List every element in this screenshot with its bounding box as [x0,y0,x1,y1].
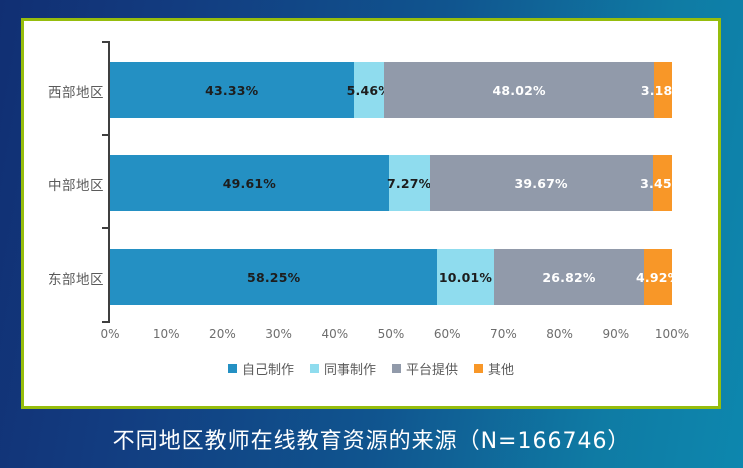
bar-segment-label: 58.25% [247,270,300,285]
bar-segment-label: 49.61% [223,176,276,191]
bar-segment[interactable]: 3.45% [653,155,672,211]
y-axis-tick [102,134,109,136]
legend-label: 平台提供 [406,359,458,378]
category-label: 西部地区 [30,81,104,101]
x-axis-tick-label: 80% [546,327,573,341]
bar-segment-label: 4.92% [636,270,680,285]
plot-area: 西部地区中部地区东部地区 43.33%5.46%48.02%3.18%49.61… [24,21,718,406]
bar-segment-label: 39.67% [514,176,567,191]
legend-swatch-icon [228,364,237,373]
bar-row: 58.25%10.01%26.82%4.92% [110,249,672,305]
x-axis-tick-label: 40% [321,327,348,341]
legend-item[interactable]: 平台提供 [392,359,458,378]
bar-segment-label: 7.27% [387,176,431,191]
legend-swatch-icon [310,364,319,373]
bar-segment[interactable]: 5.46% [354,62,385,118]
chart-legend: 自己制作同事制作平台提供其他 [24,359,718,378]
legend-label: 其他 [488,359,514,378]
bar-segment[interactable]: 48.02% [384,62,654,118]
bar-segment[interactable]: 10.01% [437,249,493,305]
y-axis-tick [102,41,109,43]
legend-item[interactable]: 同事制作 [310,359,376,378]
x-axis-tick-label: 0% [100,327,119,341]
bar-segment[interactable]: 4.92% [644,249,672,305]
x-axis-tick-label: 60% [434,327,461,341]
bar-row: 49.61%7.27%39.67%3.45% [110,155,672,211]
x-axis-tick-label: 100% [655,327,689,341]
x-axis-tick-label: 20% [209,327,236,341]
legend-item[interactable]: 其他 [474,359,514,378]
bar-segment-label: 43.33% [205,83,258,98]
bar-segment-label: 10.01% [439,270,492,285]
bar-segment[interactable]: 43.33% [110,62,354,118]
bar-segment[interactable]: 39.67% [430,155,653,211]
x-axis-labels: 0%10%20%30%40%50%60%70%80%90%100% [110,327,672,345]
x-axis-tick-label: 10% [153,327,180,341]
slide-caption: 不同地区教师在线教育资源的来源（N=166746） [0,423,743,455]
chart-panel: 西部地区中部地区东部地区 43.33%5.46%48.02%3.18%49.61… [21,18,721,409]
bar-segment[interactable]: 49.61% [110,155,389,211]
bar-segment-label: 26.82% [542,270,595,285]
bar-segment-label: 3.18% [641,83,685,98]
x-axis-tick-label: 50% [378,327,405,341]
x-axis-tick-label: 70% [490,327,517,341]
legend-swatch-icon [392,364,401,373]
bar-segment[interactable]: 3.18% [654,62,672,118]
bar-segment[interactable]: 26.82% [494,249,645,305]
y-axis-tick [102,227,109,229]
bar-segment-label: 3.45% [640,176,684,191]
bar-segment[interactable]: 58.25% [110,249,437,305]
x-axis-tick-label: 30% [265,327,292,341]
category-label: 东部地区 [30,268,104,288]
bar-row: 43.33%5.46%48.02%3.18% [110,62,672,118]
legend-label: 自己制作 [242,359,294,378]
legend-label: 同事制作 [324,359,376,378]
bar-segment[interactable]: 7.27% [389,155,430,211]
category-label: 中部地区 [30,174,104,194]
legend-swatch-icon [474,364,483,373]
bar-segment-label: 48.02% [492,83,545,98]
legend-item[interactable]: 自己制作 [228,359,294,378]
y-axis-tick [102,321,109,323]
x-axis-tick-label: 90% [602,327,629,341]
slide-canvas: 西部地区中部地区东部地区 43.33%5.46%48.02%3.18%49.61… [0,0,743,468]
